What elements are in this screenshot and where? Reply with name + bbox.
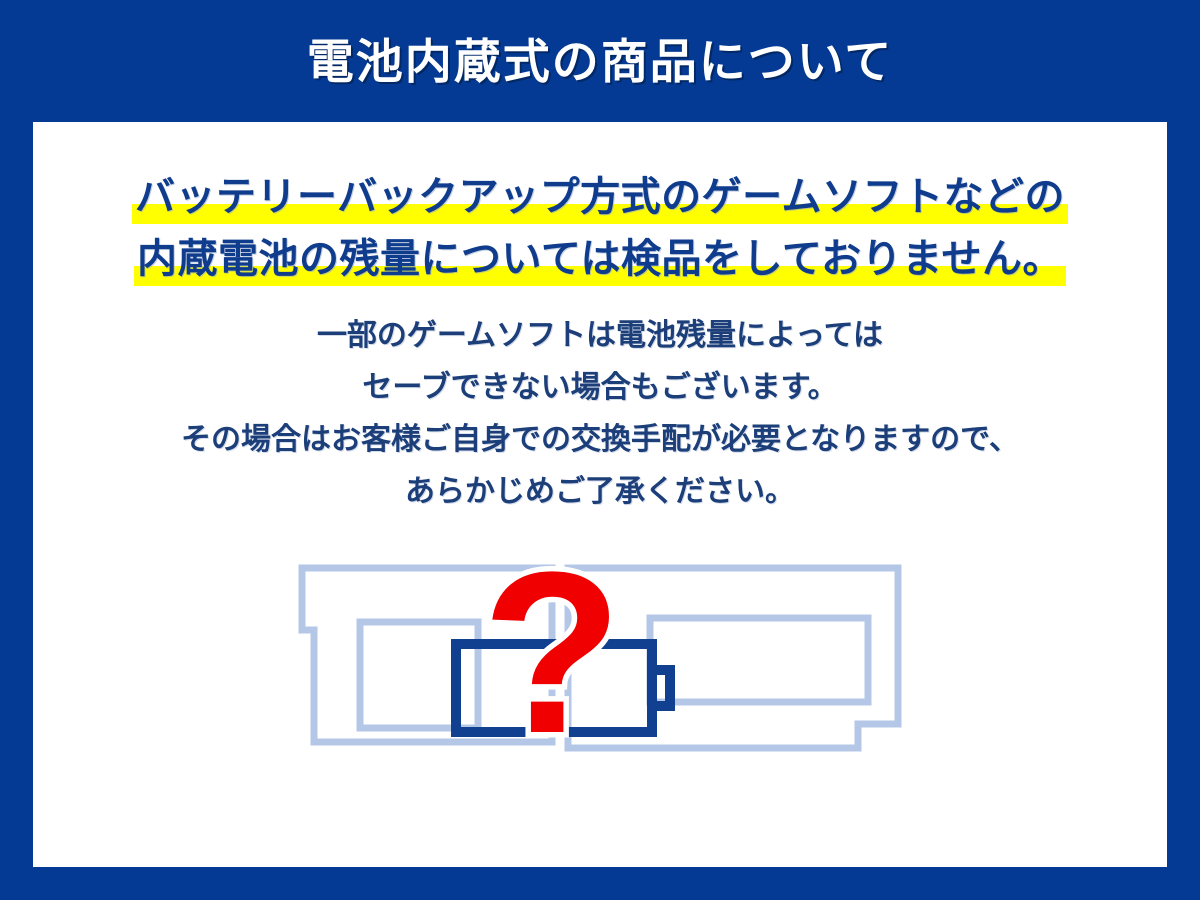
headline-block: バッテリーバックアップ方式のゲームソフトなどの 内蔵電池の残量については検品をし… <box>33 166 1167 290</box>
headline-text-1: バッテリーバックアップ方式のゲームソフトなどの <box>135 175 1065 219</box>
headline-line-1: バッテリーバックアップ方式のゲームソフトなどの <box>33 166 1167 228</box>
page-title: 電池内蔵式の商品について <box>307 38 894 85</box>
illustration-svg: ? <box>280 552 920 792</box>
title-band: 電池内蔵式の商品について <box>0 0 1200 122</box>
illustration-block: ? <box>33 552 1167 812</box>
headline-highlight-1: バッテリーバックアップ方式のゲームソフトなどの <box>132 166 1068 237</box>
body-copy-block: 一部のゲームソフトは電池残量によっては セーブできない場合もございます。 その場… <box>33 310 1167 518</box>
body-line-2: セーブできない場合もございます。 <box>33 362 1167 414</box>
headline-line-2: 内蔵電池の残量については検品をしておりません。 <box>33 228 1167 290</box>
body-line-3: その場合はお客様ご自身での交換手配が必要となりますので、 <box>33 414 1167 466</box>
body-line-1: 一部のゲームソフトは電池残量によっては <box>33 310 1167 362</box>
body-line-4: あらかじめご了承ください。 <box>33 466 1167 518</box>
question-mark-icon: ? <box>482 552 623 781</box>
headline-highlight-2: 内蔵電池の残量については検品をしておりません。 <box>134 228 1066 299</box>
svg-text:?: ? <box>482 552 623 781</box>
content-panel: バッテリーバックアップ方式のゲームソフトなどの 内蔵電池の残量については検品をし… <box>33 122 1167 867</box>
headline-text-2: 内蔵電池の残量については検品をしておりません。 <box>137 237 1063 281</box>
slide-root: 電池内蔵式の商品について バッテリーバックアップ方式のゲームソフトなどの 内蔵電… <box>0 0 1200 900</box>
